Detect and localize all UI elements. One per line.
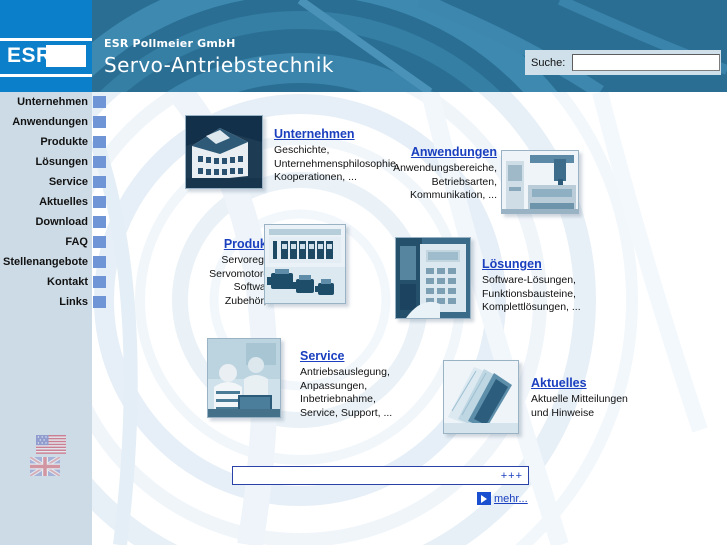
tile-text-loesungen: Lösungen Software-Lösungen, Funktionsbau…: [482, 255, 614, 315]
search-label: Suche:: [531, 57, 565, 69]
tile-link-loesungen[interactable]: Lösungen: [482, 257, 542, 271]
sidebar-item-marker-icon: [93, 296, 106, 308]
tile-image-loesungen[interactable]: [395, 237, 471, 319]
sidebar-item-links[interactable]: Links: [0, 292, 106, 312]
tile-image-service[interactable]: [207, 338, 281, 418]
sidebar-item-label: Service: [49, 172, 93, 192]
tile-text-aktuelles: Aktuelles Aktuelle Mitteilungen und Hinw…: [531, 374, 661, 420]
sidebar-item-service[interactable]: Service: [0, 172, 106, 192]
sidebar-item-label: Stellenangebote: [3, 252, 93, 272]
tile-link-aktuelles[interactable]: Aktuelles: [531, 376, 587, 390]
sidebar-item-label: Produkte: [40, 132, 93, 152]
tile-image-anwendungen[interactable]: [501, 150, 579, 214]
sidebar-item-produkte[interactable]: Produkte: [0, 132, 106, 152]
machine-tool-photo: [502, 151, 578, 213]
sidebar-nav: UnternehmenAnwendungenProdukteLösungenSe…: [0, 92, 106, 312]
sidebar-item-marker-icon: [93, 96, 106, 108]
esr-logo[interactable]: ESR: [0, 0, 92, 92]
tile-link-service[interactable]: Service: [300, 349, 344, 363]
tile-text-service: Service Antriebsauslegung, Anpassungen, …: [300, 347, 450, 420]
sidebar-item-label: Kontakt: [47, 272, 93, 292]
sidebar-item-kontakt[interactable]: Kontakt: [0, 272, 106, 292]
sidebar-item-label: Download: [35, 212, 93, 232]
sidebar-item-marker-icon: [93, 196, 106, 208]
sidebar-item-marker-icon: [93, 236, 106, 248]
search-input[interactable]: [572, 54, 720, 71]
logo-rule-bottom: [0, 74, 92, 77]
tile-text-produkte: Produkte Servoregler, Servomotoren, Soft…: [174, 235, 278, 308]
sidebar-item-label: Anwendungen: [12, 112, 93, 132]
sidebar-item-unternehmen[interactable]: Unternehmen: [0, 92, 106, 112]
page-root: ESR ESR Pollmeier GmbH Servo-Antriebstec…: [0, 0, 727, 545]
search-panel: Suche:: [525, 50, 721, 75]
us-flag-icon[interactable]: [36, 435, 66, 454]
sidebar-item-label: Lösungen: [35, 152, 93, 172]
logo-text: ESR: [7, 43, 52, 69]
ticker-box[interactable]: +++: [232, 466, 529, 485]
company-tagline: Servo-Antriebstechnik: [104, 53, 334, 77]
sidebar-item-marker-icon: [93, 216, 106, 228]
tile-image-unternehmen[interactable]: [185, 115, 263, 189]
sidebar-item-anwendungen[interactable]: Anwendungen: [0, 112, 106, 132]
control-panel-photo: [396, 238, 470, 318]
tile-text-anwendungen: Anwendungen Anwendungsbereiche, Betriebs…: [381, 143, 497, 203]
logo-white-bar: [46, 45, 86, 67]
logo-rule-top: [0, 38, 92, 41]
ticker-text: +++: [501, 468, 523, 484]
play-arrow-icon: [477, 492, 491, 505]
tile-desc-aktuelles: Aktuelle Mitteilungen und Hinweise: [531, 393, 661, 420]
sidebar-item-stellenangebote[interactable]: Stellenangebote: [0, 252, 106, 272]
sidebar-item-label: Unternehmen: [17, 92, 93, 112]
tile-link-anwendungen[interactable]: Anwendungen: [411, 145, 497, 159]
ticker-more-label: mehr...: [494, 493, 528, 505]
sidebar-item-label: Links: [59, 292, 93, 312]
sidebar-item-marker-icon: [93, 116, 106, 128]
sidebar-item-download[interactable]: Download: [0, 212, 106, 232]
sidebar-item-label: Aktuelles: [39, 192, 93, 212]
tile-link-unternehmen[interactable]: Unternehmen: [274, 127, 355, 141]
uk-flag-icon[interactable]: [30, 457, 60, 476]
sidebar: UnternehmenAnwendungenProdukteLösungenSe…: [0, 92, 92, 545]
sidebar-item-marker-icon: [93, 136, 106, 148]
site-header: ESR ESR Pollmeier GmbH Servo-Antriebstec…: [0, 0, 727, 92]
service-consultation-photo: [208, 339, 280, 417]
company-building-photo: [186, 116, 262, 188]
tile-image-produkte[interactable]: [264, 224, 346, 304]
tile-image-aktuelles[interactable]: [443, 360, 519, 434]
sidebar-item-l-sungen[interactable]: Lösungen: [0, 152, 106, 172]
company-name: ESR Pollmeier GmbH: [104, 37, 235, 50]
sidebar-item-aktuelles[interactable]: Aktuelles: [0, 192, 106, 212]
sidebar-item-marker-icon: [93, 256, 106, 268]
tile-desc-anwendungen: Anwendungsbereiche, Betriebsarten, Kommu…: [381, 162, 497, 203]
ticker-more-link[interactable]: mehr...: [477, 492, 528, 505]
news-ticker: +++ mehr...: [232, 466, 529, 485]
tile-desc-loesungen: Software-Lösungen, Funktionsbausteine, K…: [482, 274, 614, 315]
tile-desc-produkte: Servoregler, Servomotoren, Software, Zub…: [174, 254, 278, 308]
tile-desc-service: Antriebsauslegung, Anpassungen, Inbetrie…: [300, 366, 450, 420]
sidebar-item-faq[interactable]: FAQ: [0, 232, 106, 252]
sidebar-item-marker-icon: [93, 176, 106, 188]
servo-motors-photo: [265, 225, 345, 303]
sidebar-item-marker-icon: [93, 156, 106, 168]
sidebar-item-label: FAQ: [65, 232, 93, 252]
language-flags: [30, 435, 76, 476]
brochures-photo: [444, 361, 518, 433]
sidebar-item-marker-icon: [93, 276, 106, 288]
